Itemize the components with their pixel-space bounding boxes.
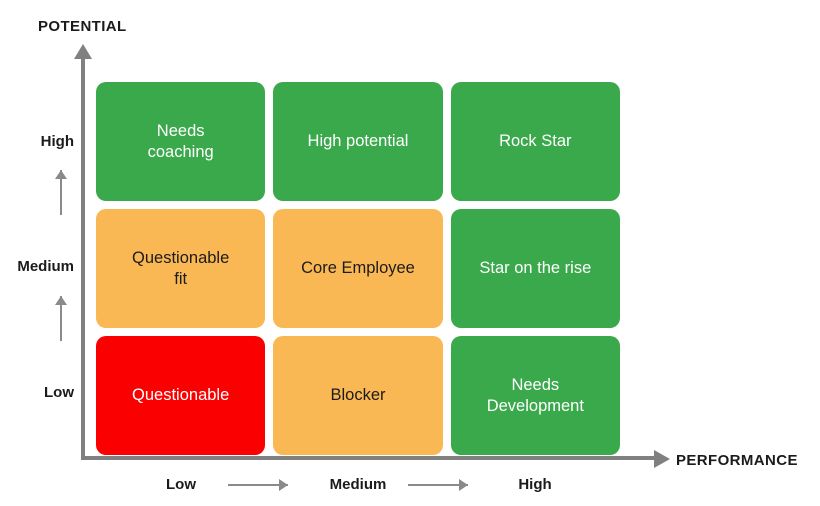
grid-cell-label: Star on the rise bbox=[479, 258, 591, 279]
x-progression-arrow-right-icon bbox=[228, 484, 288, 486]
grid-cell-star-on-the-rise[interactable]: Star on the rise bbox=[451, 209, 620, 328]
grid-cell-needs-development[interactable]: Needs Development bbox=[451, 336, 620, 455]
y-axis-arrowhead-icon bbox=[74, 44, 92, 59]
y-progression-arrow-up-icon bbox=[60, 170, 62, 215]
grid-cell-questionable[interactable]: Questionable bbox=[96, 336, 265, 455]
y-axis-tick-low: Low bbox=[44, 384, 74, 401]
grid-cell-label: Needs coaching bbox=[148, 121, 214, 162]
grid-cell-rock-star[interactable]: Rock Star bbox=[451, 82, 620, 201]
grid-cell-label: Needs Development bbox=[487, 375, 584, 416]
y-axis-tick-high: High bbox=[41, 133, 74, 150]
grid-cell-needs-coaching[interactable]: Needs coaching bbox=[96, 82, 265, 201]
y-axis-title: POTENTIAL bbox=[38, 18, 127, 35]
grid-cell-label: Questionable fit bbox=[132, 248, 229, 289]
x-axis-tick-low: Low bbox=[136, 476, 226, 493]
grid-cell-label: Core Employee bbox=[301, 258, 415, 279]
grid-cell-label: Questionable bbox=[132, 385, 229, 406]
x-axis-tick-high: High bbox=[490, 476, 580, 493]
x-axis-title: PERFORMANCE bbox=[676, 452, 798, 469]
x-axis-arrowhead-icon bbox=[654, 450, 670, 468]
grid-cell-label: Rock Star bbox=[499, 131, 571, 152]
grid-cell-questionable-fit[interactable]: Questionable fit bbox=[96, 209, 265, 328]
nine-box-grid-diagram: POTENTIAL PERFORMANCE High Medium Low Lo… bbox=[0, 0, 820, 506]
x-progression-arrow-right-icon bbox=[408, 484, 468, 486]
y-axis-line bbox=[81, 56, 85, 460]
y-progression-arrow-up-icon bbox=[60, 296, 62, 341]
grid-cell-label: High potential bbox=[308, 131, 409, 152]
grid-cell-high-potential[interactable]: High potential bbox=[273, 82, 442, 201]
grid-cell-blocker[interactable]: Blocker bbox=[273, 336, 442, 455]
y-axis-tick-medium: Medium bbox=[17, 258, 74, 275]
grid-cell-label: Blocker bbox=[330, 385, 385, 406]
grid-cell-core-employee[interactable]: Core Employee bbox=[273, 209, 442, 328]
x-axis-line bbox=[81, 456, 656, 460]
matrix-grid: Needs coaching High potential Rock Star … bbox=[96, 82, 620, 455]
x-axis-tick-medium: Medium bbox=[312, 476, 404, 493]
